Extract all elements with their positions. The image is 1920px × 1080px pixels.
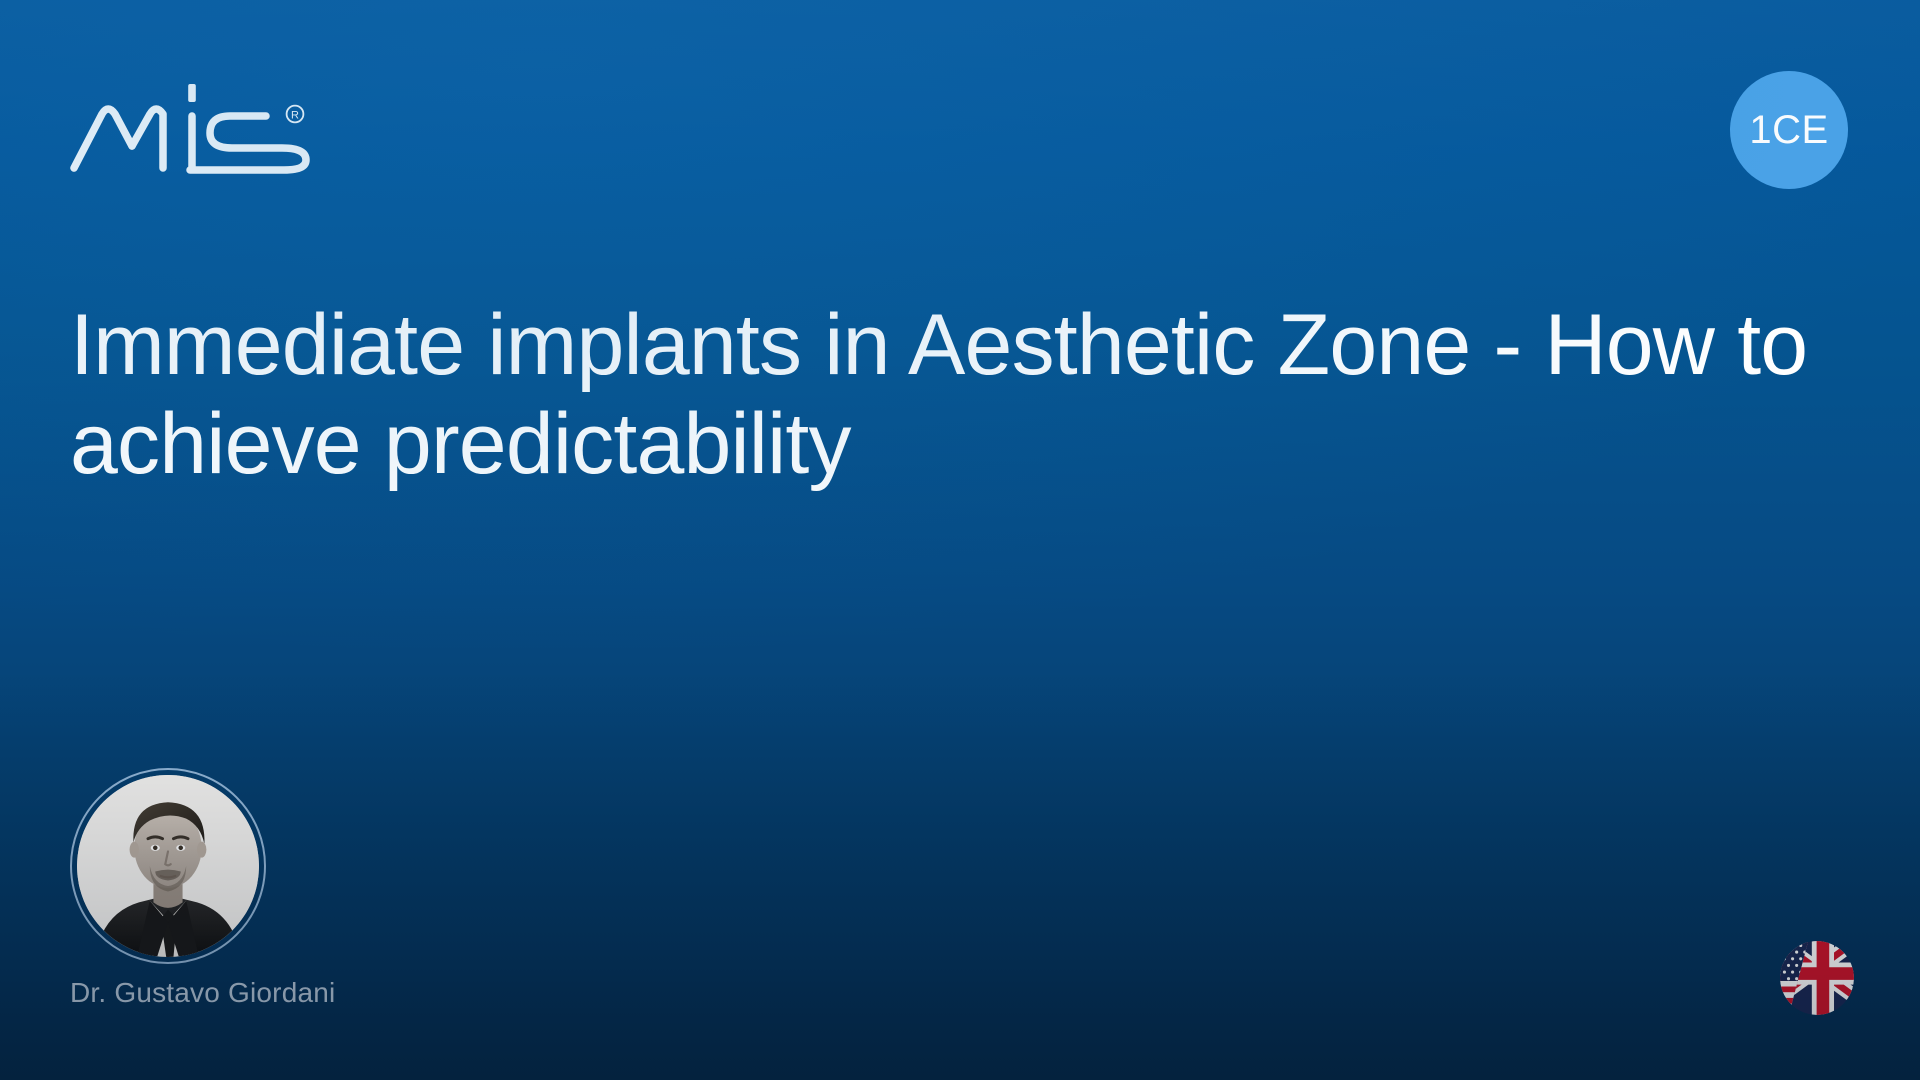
logo-i-dot: [188, 84, 196, 102]
page-title: Immediate implants in Aesthetic Zone - H…: [70, 296, 1840, 496]
registered-trademark-icon: R: [287, 106, 304, 123]
ce-credit-badge[interactable]: 1CE: [1730, 71, 1848, 189]
avatar: [70, 768, 266, 964]
avatar-photo: [77, 775, 259, 957]
ce-credit-label: 1CE: [1749, 110, 1828, 150]
title-slide: R 1CE Immediate implants in Aesthetic Zo…: [0, 0, 1920, 1080]
presenter-name: Dr. Gustavo Giordani: [70, 977, 335, 1009]
svg-text:R: R: [291, 109, 299, 121]
us-uk-flag-icon[interactable]: [1780, 941, 1854, 1015]
mis-logo: R: [70, 78, 320, 170]
